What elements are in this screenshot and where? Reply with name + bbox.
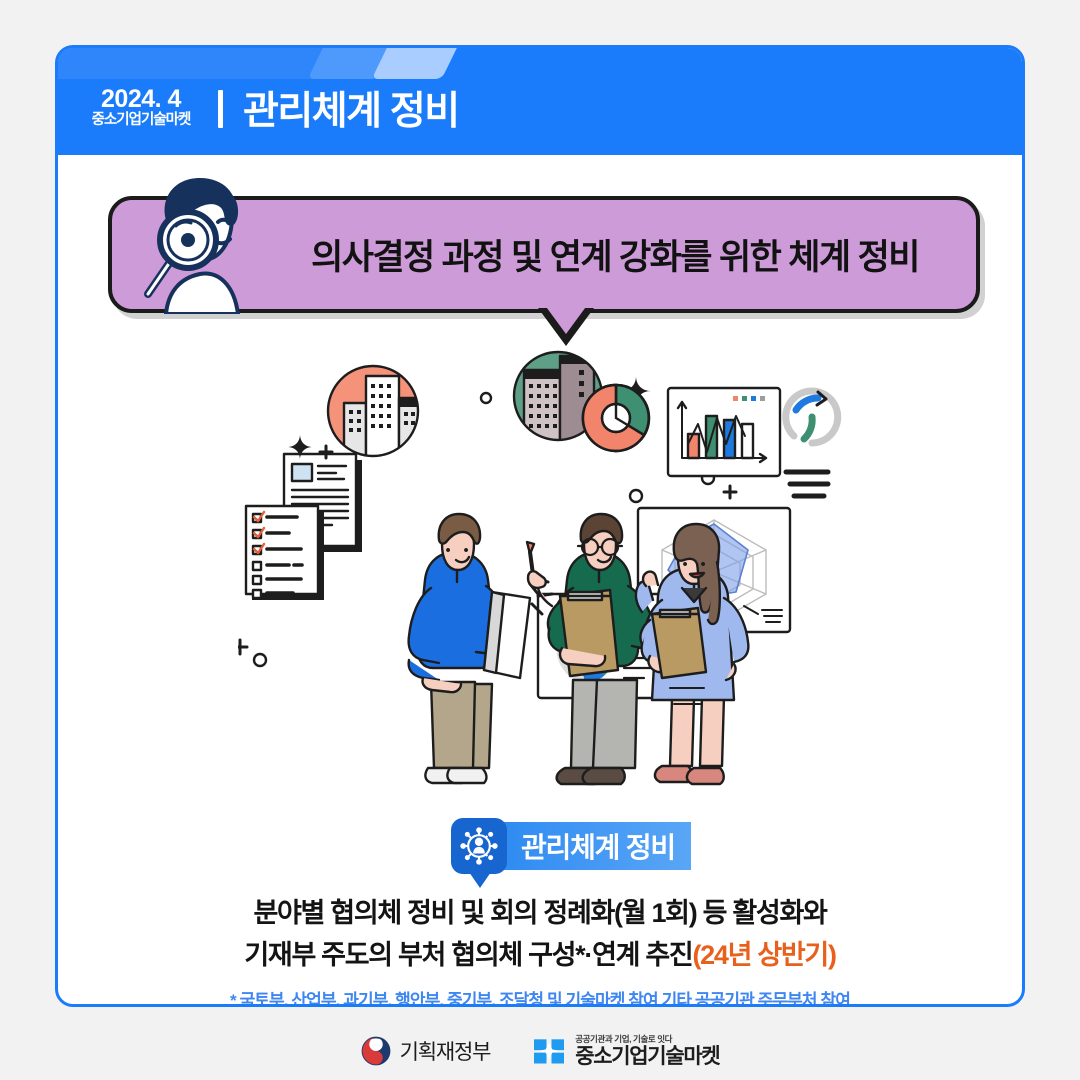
body-line-2-highlight: (24년 상반기) xyxy=(692,940,835,970)
badge-pointer xyxy=(469,872,491,888)
section-badge: 관리체계 정비 xyxy=(451,818,691,874)
header-brand: 중소기업기술마켓 xyxy=(82,113,200,128)
page-title: 관리체계 정비 xyxy=(243,80,459,136)
infographic-card: 2024. 4 중소기업기술마켓 관리체계 정비 xyxy=(55,45,1025,1007)
market-tagline: 공공기관과 기업, 기술로 잇다 xyxy=(575,1035,719,1044)
bubble-tail-fill xyxy=(544,304,588,334)
orange-building-circle-icon xyxy=(328,366,419,458)
network-person-icon xyxy=(451,818,507,874)
pinwheel-logo-icon xyxy=(532,1036,566,1066)
body-line-1: 분야별 협의체 정비 및 회의 정례화(월 1회) 등 활성화와 xyxy=(58,893,1022,935)
ring-arrow-icon xyxy=(786,391,838,443)
collaboration-illustration xyxy=(238,348,878,788)
header-content: 2024. 4 중소기업기술마켓 관리체계 정비 xyxy=(58,48,1022,155)
bar-line-chart-card-icon xyxy=(668,388,780,476)
body-description: 분야별 협의체 정비 및 회의 정례화(월 1회) 등 활성화와 기재부 주도의… xyxy=(58,893,1022,977)
headline-text: 의사결정 과정 및 연계 강화를 위한 체계 정비 xyxy=(268,196,962,313)
header-date-block: 2024. 4 중소기업기술마켓 xyxy=(82,87,200,128)
taegeuk-logo-icon xyxy=(361,1036,391,1066)
badge-label: 관리체계 정비 xyxy=(501,822,691,870)
headline-speech-bubble: 의사결정 과정 및 연계 강화를 위한 체계 정비 xyxy=(108,196,980,313)
footer-logos: 기획재정부 공공기관과 기업, 기술로 잇다 중소기업기술마켓 xyxy=(0,1022,1080,1080)
moef-logo-group: 기획재정부 xyxy=(361,1036,491,1066)
header-divider xyxy=(218,90,223,128)
checklist-icon xyxy=(246,506,324,600)
header-date: 2024. 4 xyxy=(82,87,200,113)
footnote-text: * 국토부, 산업부, 과기부, 행안부, 중기부, 조달청 및 기술마켓 참여… xyxy=(58,986,1022,1007)
header-bar: 2024. 4 중소기업기술마켓 관리체계 정비 xyxy=(58,48,1022,155)
market-name: 중소기업기술마켓 xyxy=(575,1046,719,1067)
body-line-2: 기재부 주도의 부처 협의체 구성*·연계 추진(24년 상반기) xyxy=(58,935,1022,977)
body-line-2-prefix: 기재부 주도의 부처 협의체 구성*·연계 추진 xyxy=(244,940,692,970)
market-text-block: 공공기관과 기업, 기술로 잇다 중소기업기술마켓 xyxy=(575,1035,719,1068)
donut-chart-icon xyxy=(583,385,649,451)
person-with-magnifier-icon xyxy=(126,164,276,314)
moef-name: 기획재정부 xyxy=(400,1036,491,1066)
market-logo-group: 공공기관과 기업, 기술로 잇다 중소기업기술마켓 xyxy=(532,1035,719,1068)
menu-lines-icon xyxy=(786,472,828,496)
